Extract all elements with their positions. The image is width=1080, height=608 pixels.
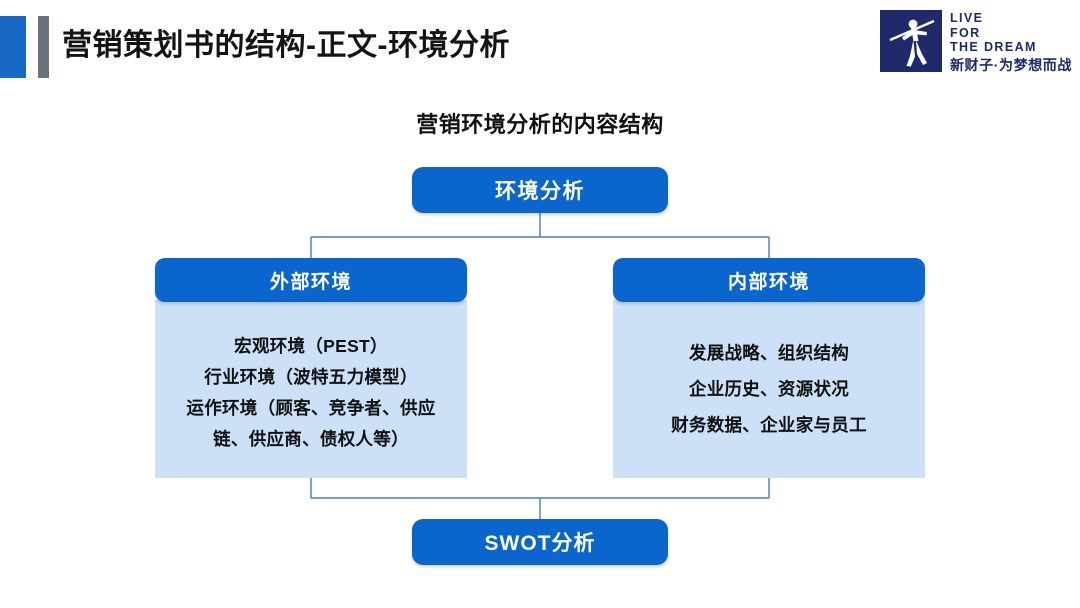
external-line-1: 宏观环境（PEST） (234, 331, 388, 362)
branch-internal-environment-label: 内部环境 (728, 267, 810, 294)
node-swot-analysis[interactable]: SWOT分析 (412, 519, 668, 565)
brand-logo: LIVE FOR THE DREAM 新财子·为梦想而战 (880, 10, 1072, 74)
node-swot-analysis-label: SWOT分析 (485, 527, 596, 557)
internal-line-2: 企业历史、资源状况 (689, 371, 849, 407)
header-accent-bar-gray (38, 16, 49, 78)
external-line-3: 运作环境（顾客、竞争者、供应 (186, 393, 435, 424)
external-line-2: 行业环境（波特五力模型） (204, 362, 418, 393)
page-title: 营销策划书的结构-正文-环境分析 (62, 20, 510, 72)
logo-line-live: LIVE (950, 11, 1072, 26)
logo-javelin-thrower-icon (880, 10, 942, 72)
external-line-4: 链、供应商、债权人等） (213, 424, 409, 455)
branch-external-environment-label: 外部环境 (270, 267, 352, 294)
branch-internal-environment-header[interactable]: 内部环境 (613, 258, 925, 302)
logo-line-for: FOR (950, 26, 1072, 41)
branch-external-environment-body: 宏观环境（PEST） 行业环境（波特五力模型） 运作环境（顾客、竞争者、供应 链… (155, 300, 467, 478)
logo-text: LIVE FOR THE DREAM 新财子·为梦想而战 (950, 10, 1072, 74)
branch-internal-environment-body: 发展战略、组织结构 企业历史、资源状况 财务数据、企业家与员工 (613, 300, 925, 478)
org-chart-diagram: 营销环境分析的内容结构 环境分析 外部环境 宏观环境（PEST） 行业环境（波特… (0, 86, 1080, 608)
header-accent-bar-blue (0, 16, 26, 78)
node-environment-analysis[interactable]: 环境分析 (412, 167, 668, 213)
node-environment-analysis-label: 环境分析 (495, 175, 585, 205)
branch-internal-environment: 内部环境 发展战略、组织结构 企业历史、资源状况 财务数据、企业家与员工 (613, 258, 925, 478)
internal-line-1: 发展战略、组织结构 (689, 335, 849, 371)
branch-external-environment: 外部环境 宏观环境（PEST） 行业环境（波特五力模型） 运作环境（顾客、竞争者… (155, 258, 467, 478)
slide-header: 营销策划书的结构-正文-环境分析 LIVE FOR THE (0, 0, 1080, 86)
internal-line-3: 财务数据、企业家与员工 (671, 407, 867, 443)
branch-external-environment-header[interactable]: 外部环境 (155, 258, 467, 302)
logo-line-the-dream: THE DREAM (950, 40, 1072, 55)
logo-line-chinese-slogan: 新财子·为梦想而战 (950, 56, 1072, 74)
